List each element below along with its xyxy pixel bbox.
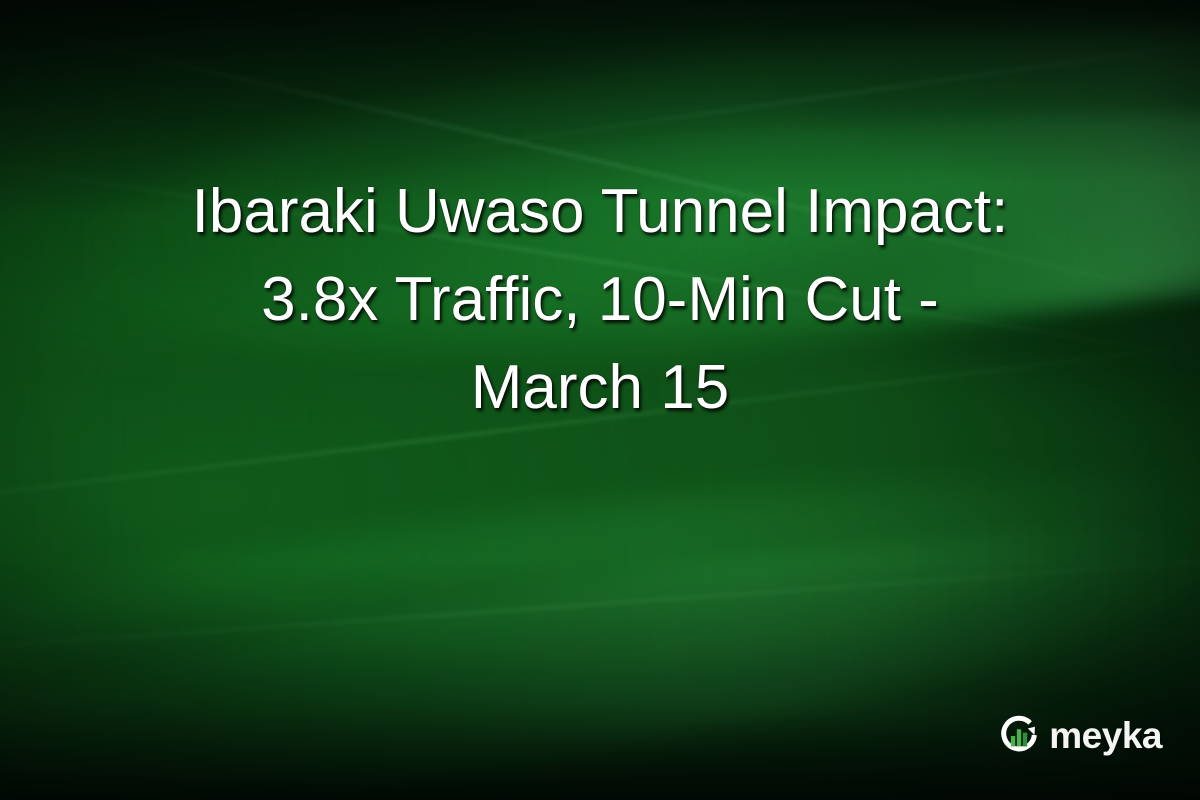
meyka-logo-icon [996, 712, 1042, 758]
title-block: Ibaraki Uwaso Tunnel Impact: 3.8x Traffi… [0, 168, 1200, 432]
brand-logo[interactable]: meyka [996, 712, 1162, 758]
page-title: Ibaraki Uwaso Tunnel Impact: 3.8x Traffi… [60, 168, 1140, 432]
article-cover-image: Ibaraki Uwaso Tunnel Impact: 3.8x Traffi… [0, 0, 1200, 800]
brand-name: meyka [1049, 717, 1162, 754]
